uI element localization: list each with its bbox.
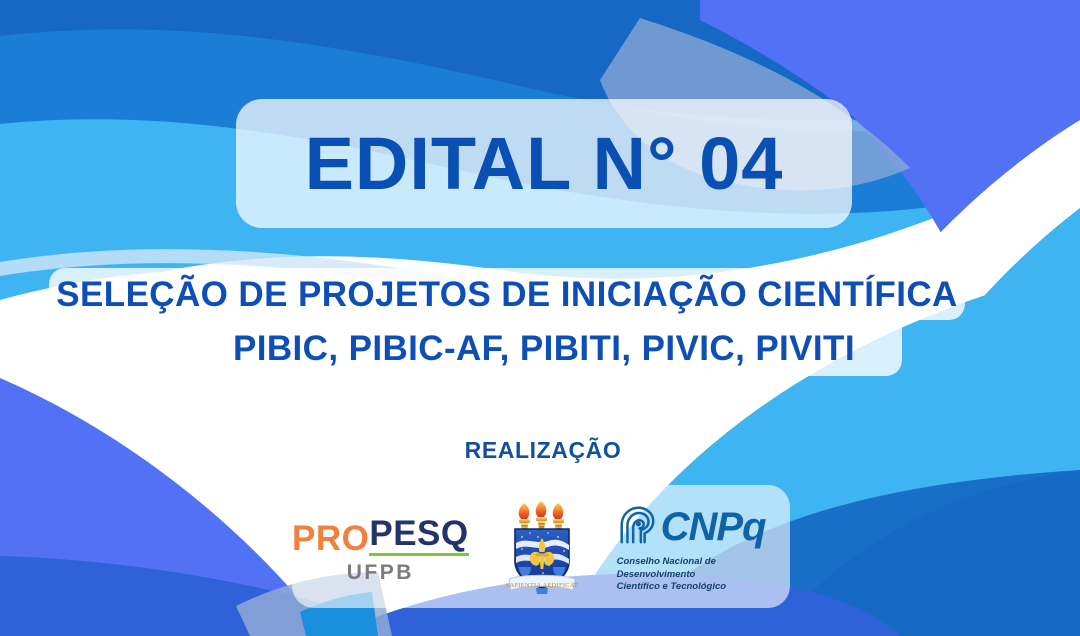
ufpb-seal-motto: SAPIENTIA AEDIFICAT: [505, 582, 577, 589]
subtitle-line-2: PIBIC, PIBIC-AF, PIBITI, PIVIC, PIVITI: [233, 331, 855, 366]
subtitle-line-2-badge: PIBIC, PIBIC-AF, PIBITI, PIVIC, PIVITI: [186, 320, 902, 376]
propesq-institution-label: UFPB: [347, 562, 414, 583]
propesq-wordmark: PROPESQ: [292, 516, 469, 556]
realizacao-label: REALIZAÇÃO: [465, 439, 622, 462]
cnpq-logo: CNPq Conselho Nacional de Desenvolviment…: [615, 503, 790, 594]
propesq-logo: PROPESQ UFPB: [292, 516, 469, 583]
subtitle-line-1-badge: SELEÇÃO DE PROJETOS DE INICIAÇÃO CIENTÍF…: [49, 268, 965, 320]
title-badge: EDITAL N° 04: [236, 99, 852, 228]
sponsor-logo-panel: PROPESQ UFPB: [292, 485, 790, 608]
propesq-wordmark-pro: PRO: [292, 521, 369, 556]
cnpq-wordmark: CNPq: [661, 508, 766, 546]
cnpq-tagline: Conselho Nacional de Desenvolvimento Cie…: [617, 556, 790, 594]
cnpq-head-icon: [615, 503, 659, 551]
propesq-wordmark-pesq: PESQ: [369, 516, 468, 556]
poster-canvas: EDITAL N° 04 SELEÇÃO DE PROJETOS DE INIC…: [0, 0, 1080, 636]
ufpb-seal-icon: SAPIENTIA AEDIFICAT: [503, 499, 581, 595]
subtitle-line-1: SELEÇÃO DE PROJETOS DE INICIAÇÃO CIENTÍF…: [56, 277, 957, 312]
page-title: EDITAL N° 04: [305, 127, 784, 201]
realizacao-badge: REALIZAÇÃO: [443, 431, 643, 469]
